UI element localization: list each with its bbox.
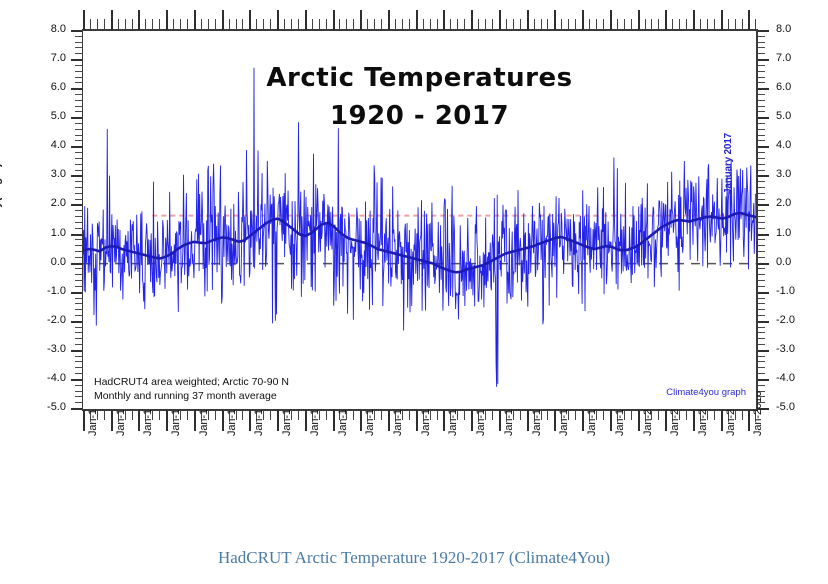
y-minor-tick: [758, 100, 765, 101]
y-tick-label: 0.0: [776, 257, 820, 268]
y-tick-label: -5.0: [26, 402, 66, 413]
x-minor-tick: [603, 19, 604, 30]
y-minor-tick: [75, 385, 82, 386]
y-major-tick: [71, 408, 82, 410]
x-minor-tick: [457, 19, 458, 30]
y-major-tick: [71, 234, 82, 236]
x-major-tick: [249, 410, 251, 431]
y-major-tick: [758, 263, 769, 265]
y-minor-tick: [75, 129, 82, 130]
y-major-tick: [71, 292, 82, 294]
y-minor-tick: [758, 181, 765, 182]
x-minor-tick: [298, 410, 299, 420]
y-minor-tick: [758, 47, 765, 48]
source-note-line1: HadCRUT4 area weighted; Arctic 70-90 N: [94, 376, 289, 388]
x-major-tick: [527, 410, 529, 431]
x-minor-tick: [547, 410, 548, 420]
y-tick-label: 4.0: [26, 140, 66, 151]
y-minor-tick: [758, 268, 765, 269]
y-major-tick: [71, 117, 82, 119]
x-minor-tick: [346, 19, 347, 30]
x-minor-tick: [707, 19, 708, 30]
x-major-tick: [527, 10, 529, 30]
x-minor-tick: [651, 19, 652, 30]
y-tick-label: 1.0: [26, 228, 66, 239]
y-tick-label: 2.0: [776, 198, 820, 209]
y-minor-tick: [758, 367, 765, 368]
x-minor-tick: [381, 410, 382, 420]
y-minor-tick: [75, 94, 82, 95]
y-tick-label: 4.0: [776, 140, 820, 151]
x-major-tick: [277, 410, 279, 431]
y-major-tick: [758, 234, 769, 236]
y-minor-tick: [75, 47, 82, 48]
x-minor-tick: [534, 19, 535, 30]
y-minor-tick: [758, 164, 765, 165]
y-minor-tick: [75, 123, 82, 124]
x-minor-tick: [714, 410, 715, 420]
y-major-tick: [758, 117, 769, 119]
y-major-tick: [71, 175, 82, 177]
y-minor-tick: [75, 53, 82, 54]
x-minor-tick: [624, 19, 625, 30]
y-minor-tick: [758, 251, 765, 252]
y-major-tick: [758, 379, 769, 381]
x-minor-tick: [104, 410, 105, 420]
x-minor-tick: [589, 19, 590, 30]
y-minor-tick: [758, 140, 765, 141]
x-major-tick: [305, 10, 307, 30]
y-minor-tick: [75, 239, 82, 240]
y-minor-tick: [75, 280, 82, 281]
x-minor-tick: [568, 19, 569, 30]
y-minor-tick: [758, 303, 765, 304]
y-minor-tick: [758, 111, 765, 112]
y-minor-tick: [75, 356, 82, 357]
y-major-tick: [758, 88, 769, 90]
y-minor-tick: [758, 71, 765, 72]
x-minor-tick: [755, 19, 756, 30]
x-minor-tick: [645, 19, 646, 30]
x-major-tick: [582, 410, 584, 431]
y-major-tick: [71, 350, 82, 352]
y-minor-tick: [75, 100, 82, 101]
y-minor-tick: [75, 367, 82, 368]
x-minor-tick: [603, 410, 604, 420]
end-date-label: January 2017: [723, 133, 734, 194]
y-major-tick: [758, 30, 769, 32]
x-minor-tick: [742, 19, 743, 30]
x-major-tick: [111, 410, 113, 431]
x-major-tick: [333, 410, 335, 431]
y-minor-tick: [758, 385, 765, 386]
x-minor-tick: [658, 410, 659, 420]
x-minor-tick: [381, 19, 382, 30]
y-minor-tick: [75, 228, 82, 229]
x-minor-tick: [575, 19, 576, 30]
x-minor-tick: [353, 410, 354, 420]
y-minor-tick: [758, 199, 765, 200]
y-minor-tick: [75, 402, 82, 403]
top-axis-ruler: [82, 9, 758, 30]
x-minor-tick: [339, 19, 340, 30]
y-minor-tick: [75, 164, 82, 165]
y-major-tick: [758, 204, 769, 206]
y-minor-tick: [758, 106, 765, 107]
chart-figure: 8.08.07.07.06.06.05.05.04.04.03.03.02.02…: [0, 0, 828, 535]
y-tick-label: 2.0: [26, 198, 66, 209]
x-minor-tick: [312, 19, 313, 30]
y-minor-tick: [75, 71, 82, 72]
x-major-tick: [721, 10, 723, 30]
x-minor-tick: [437, 19, 438, 30]
y-minor-tick: [75, 111, 82, 112]
y-axis-right-line: [757, 30, 758, 410]
x-major-tick: [721, 410, 723, 431]
y-major-tick: [71, 379, 82, 381]
y-minor-tick: [75, 274, 82, 275]
x-major-tick: [638, 10, 640, 30]
x-major-tick: [305, 410, 307, 431]
y-minor-tick: [758, 228, 765, 229]
x-major-tick: [166, 10, 168, 30]
y-minor-tick: [758, 187, 765, 188]
x-major-tick: [416, 10, 418, 30]
figure-caption: HadCRUT Arctic Temperature 1920-2017 (Cl…: [0, 548, 828, 568]
x-major-tick: [222, 10, 224, 30]
x-major-tick: [166, 410, 168, 431]
x-minor-tick: [485, 19, 486, 30]
source-note-line2: Monthly and running 37 month average: [94, 390, 277, 402]
x-major-tick: [222, 410, 224, 431]
x-major-tick: [499, 10, 501, 30]
x-minor-tick: [430, 19, 431, 30]
x-minor-tick: [201, 19, 202, 30]
y-minor-tick: [75, 268, 82, 269]
x-minor-tick: [104, 19, 105, 30]
x-major-tick: [748, 410, 750, 431]
x-minor-tick: [270, 410, 271, 420]
y-major-tick: [71, 59, 82, 61]
y-tick-label: -1.0: [776, 286, 820, 297]
x-major-tick: [665, 10, 667, 30]
x-minor-tick: [742, 410, 743, 420]
y-minor-tick: [75, 327, 82, 328]
x-minor-tick: [326, 410, 327, 420]
x-minor-tick: [159, 19, 160, 30]
y-minor-tick: [758, 158, 765, 159]
x-minor-tick: [658, 19, 659, 30]
y-minor-tick: [75, 170, 82, 171]
y-minor-tick: [758, 152, 765, 153]
x-minor-tick: [270, 19, 271, 30]
y-major-tick: [71, 321, 82, 323]
y-minor-tick: [758, 315, 765, 316]
x-major-tick: [138, 410, 140, 431]
x-minor-tick: [520, 19, 521, 30]
y-minor-tick: [75, 187, 82, 188]
x-minor-tick: [686, 410, 687, 420]
y-tick-label: -2.0: [26, 315, 66, 326]
y-axis-title: Anomaly(deg.C): [0, 163, 3, 248]
y-minor-tick: [758, 170, 765, 171]
x-major-tick: [388, 10, 390, 30]
x-major-tick: [499, 410, 501, 431]
y-minor-tick: [75, 298, 82, 299]
x-major-tick: [554, 10, 556, 30]
x-minor-tick: [367, 19, 368, 30]
x-minor-tick: [256, 19, 257, 30]
x-minor-tick: [208, 19, 209, 30]
y-minor-tick: [75, 216, 82, 217]
x-minor-tick: [353, 19, 354, 30]
y-tick-label: -4.0: [26, 373, 66, 384]
y-minor-tick: [758, 327, 765, 328]
x-minor-tick: [229, 19, 230, 30]
x-minor-tick: [409, 410, 410, 420]
x-minor-tick: [686, 19, 687, 30]
y-minor-tick: [75, 391, 82, 392]
plot-area: Arctic Temperatures 1920 - 2017 HadCRUT4…: [82, 30, 757, 410]
x-minor-tick: [464, 19, 465, 30]
x-minor-tick: [728, 19, 729, 30]
y-minor-tick: [758, 222, 765, 223]
x-minor-tick: [409, 19, 410, 30]
y-minor-tick: [75, 135, 82, 136]
y-minor-tick: [75, 286, 82, 287]
chart-title-line2: 1920 - 2017: [83, 101, 756, 131]
y-major-tick: [71, 88, 82, 90]
y-minor-tick: [758, 82, 765, 83]
x-major-tick: [194, 10, 196, 30]
y-tick-label: -3.0: [26, 344, 66, 355]
x-minor-tick: [242, 410, 243, 420]
y-minor-tick: [75, 222, 82, 223]
y-tick-label: 3.0: [776, 169, 820, 180]
x-minor-tick: [402, 19, 403, 30]
y-minor-tick: [758, 210, 765, 211]
y-minor-tick: [758, 65, 765, 66]
y-tick-label: 5.0: [26, 111, 66, 122]
x-minor-tick: [145, 19, 146, 30]
x-major-tick: [443, 10, 445, 30]
x-minor-tick: [125, 19, 126, 30]
chart-title-line1: Arctic Temperatures: [83, 63, 756, 93]
y-minor-tick: [758, 123, 765, 124]
x-minor-tick: [617, 19, 618, 30]
x-major-tick: [610, 10, 612, 30]
x-minor-tick: [672, 19, 673, 30]
y-minor-tick: [758, 77, 765, 78]
x-major-tick: [554, 410, 556, 431]
y-minor-tick: [758, 356, 765, 357]
y-minor-tick: [758, 286, 765, 287]
x-minor-tick: [492, 410, 493, 420]
x-minor-tick: [478, 19, 479, 30]
x-minor-tick: [631, 410, 632, 420]
y-minor-tick: [75, 315, 82, 316]
x-major-tick: [471, 10, 473, 30]
x-minor-tick: [395, 19, 396, 30]
y-tick-label: 6.0: [776, 82, 820, 93]
x-minor-tick: [700, 19, 701, 30]
y-minor-tick: [758, 245, 765, 246]
y-minor-tick: [758, 42, 765, 43]
y-minor-tick: [75, 65, 82, 66]
x-major-tick: [388, 410, 390, 431]
x-minor-tick: [506, 19, 507, 30]
chart-page: 8.08.07.07.06.06.05.05.04.04.03.03.02.02…: [0, 0, 828, 584]
y-minor-tick: [758, 274, 765, 275]
y-minor-tick: [75, 361, 82, 362]
y-minor-tick: [75, 251, 82, 252]
y-minor-tick: [75, 152, 82, 153]
x-minor-tick: [437, 410, 438, 420]
x-major-tick: [693, 10, 695, 30]
y-minor-tick: [75, 36, 82, 37]
y-minor-tick: [758, 298, 765, 299]
x-minor-tick: [513, 19, 514, 30]
x-minor-tick: [298, 19, 299, 30]
x-major-tick: [83, 10, 85, 30]
x-major-tick: [638, 410, 640, 431]
x-major-tick: [360, 10, 362, 30]
x-major-tick: [138, 10, 140, 30]
x-minor-tick: [319, 19, 320, 30]
x-major-tick: [83, 410, 85, 431]
y-minor-tick: [75, 344, 82, 345]
y-minor-tick: [75, 158, 82, 159]
y-minor-tick: [758, 373, 765, 374]
y-tick-label: -3.0: [776, 344, 820, 355]
x-minor-tick: [520, 410, 521, 420]
y-minor-tick: [75, 199, 82, 200]
y-minor-tick: [758, 193, 765, 194]
y-minor-tick: [75, 42, 82, 43]
x-minor-tick: [215, 19, 216, 30]
y-minor-tick: [758, 239, 765, 240]
x-major-tick: [610, 410, 612, 431]
y-minor-tick: [758, 332, 765, 333]
x-major-tick: [416, 410, 418, 431]
x-minor-tick: [450, 19, 451, 30]
y-tick-label: -1.0: [26, 286, 66, 297]
x-minor-tick: [631, 19, 632, 30]
x-major-tick: [277, 10, 279, 30]
y-minor-tick: [758, 361, 765, 362]
x-minor-tick: [541, 19, 542, 30]
y-tick-label: -4.0: [776, 373, 820, 384]
x-major-tick: [582, 10, 584, 30]
y-minor-tick: [758, 280, 765, 281]
x-major-tick: [194, 410, 196, 431]
y-minor-tick: [758, 309, 765, 310]
x-major-tick: [111, 10, 113, 30]
y-minor-tick: [75, 210, 82, 211]
y-minor-tick: [758, 216, 765, 217]
y-tick-label: 7.0: [26, 53, 66, 64]
y-major-tick: [758, 292, 769, 294]
y-minor-tick: [75, 193, 82, 194]
x-minor-tick: [423, 19, 424, 30]
y-tick-label: 5.0: [776, 111, 820, 122]
y-minor-tick: [75, 106, 82, 107]
x-minor-tick: [735, 19, 736, 30]
y-tick-label: 1.0: [776, 228, 820, 239]
y-minor-tick: [75, 82, 82, 83]
x-minor-tick: [596, 19, 597, 30]
y-minor-tick: [758, 257, 765, 258]
x-minor-tick: [492, 19, 493, 30]
y-major-tick: [71, 204, 82, 206]
x-minor-tick: [118, 19, 119, 30]
x-minor-tick: [152, 19, 153, 30]
x-minor-tick: [236, 19, 237, 30]
x-minor-tick: [284, 19, 285, 30]
x-minor-tick: [374, 19, 375, 30]
x-minor-tick: [561, 19, 562, 30]
y-minor-tick: [758, 344, 765, 345]
x-minor-tick: [180, 19, 181, 30]
x-minor-tick: [187, 410, 188, 420]
y-minor-tick: [758, 53, 765, 54]
y-major-tick: [758, 350, 769, 352]
x-minor-tick: [242, 19, 243, 30]
x-minor-tick: [575, 410, 576, 420]
y-major-tick: [758, 321, 769, 323]
y-major-tick: [71, 263, 82, 265]
y-tick-label: 7.0: [776, 53, 820, 64]
x-major-tick: [249, 10, 251, 30]
y-minor-tick: [75, 257, 82, 258]
x-major-tick: [443, 410, 445, 431]
y-minor-tick: [75, 332, 82, 333]
x-minor-tick: [714, 19, 715, 30]
x-minor-tick: [132, 410, 133, 420]
y-major-tick: [758, 175, 769, 177]
x-major-tick: [333, 10, 335, 30]
y-tick-label: -5.0: [776, 402, 820, 413]
y-major-tick: [758, 146, 769, 148]
y-minor-tick: [758, 94, 765, 95]
y-minor-tick: [75, 77, 82, 78]
y-minor-tick: [75, 338, 82, 339]
x-major-tick: [360, 410, 362, 431]
x-minor-tick: [215, 410, 216, 420]
y-minor-tick: [758, 135, 765, 136]
y-tick-label: 6.0: [26, 82, 66, 93]
x-major-tick: [693, 410, 695, 431]
y-tick-label: 8.0: [776, 24, 820, 35]
y-tick-label: 8.0: [26, 24, 66, 35]
x-minor-tick: [263, 19, 264, 30]
y-major-tick: [71, 30, 82, 32]
x-minor-tick: [187, 19, 188, 30]
x-minor-tick: [90, 19, 91, 30]
y-minor-tick: [758, 129, 765, 130]
y-major-tick: [758, 59, 769, 61]
y-minor-tick: [758, 338, 765, 339]
x-minor-tick: [326, 19, 327, 30]
x-major-tick: [748, 10, 750, 30]
x-minor-tick: [97, 19, 98, 30]
y-minor-tick: [75, 181, 82, 182]
x-minor-tick: [159, 410, 160, 420]
y-tick-label: 3.0: [26, 169, 66, 180]
y-minor-tick: [75, 373, 82, 374]
y-major-tick: [71, 146, 82, 148]
y-tick-label: -2.0: [776, 315, 820, 326]
